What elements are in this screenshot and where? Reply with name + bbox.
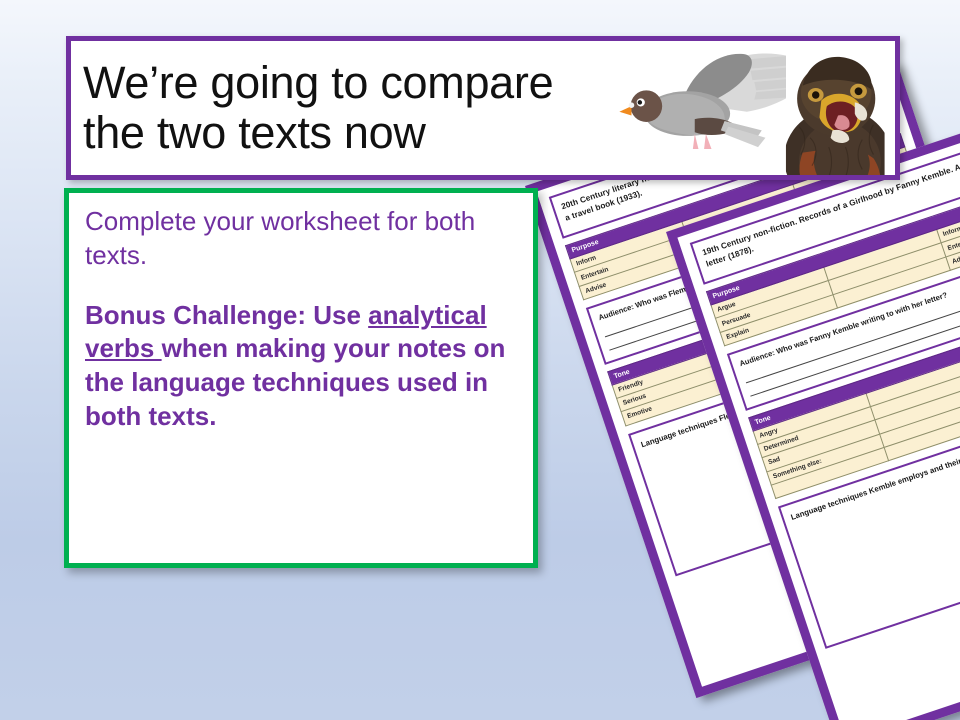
instruction-bonus-challenge: Bonus Challenge: Use analytical verbs wh… <box>85 299 517 434</box>
table-cell-blank <box>844 300 960 351</box>
instruction-spacer <box>85 273 517 299</box>
table-row: Determined <box>758 407 875 458</box>
language-techniques-notes: Language techniques Fleming employs and … <box>628 321 960 576</box>
answer-rule <box>748 280 960 396</box>
table-cell-blank <box>840 286 956 337</box>
table-cell-blank <box>866 355 960 406</box>
page-title: We’re going to compare the two texts now <box>71 58 553 159</box>
table-row: Angry <box>753 393 870 444</box>
table-cell-blank <box>733 337 849 388</box>
table-row: Persuade <box>716 281 833 332</box>
table-row: Sad <box>762 420 879 471</box>
title-banner: We’re going to compare the two texts now <box>66 36 900 180</box>
table-cell-blank <box>824 229 941 280</box>
pigeon-illustration <box>619 53 809 148</box>
audience-question-label: Audience: Who was Fleming writing to wit… <box>597 252 784 322</box>
slide-canvas: 20th Century literary non-fiction. One’s… <box>0 0 960 720</box>
answer-rule <box>602 222 923 337</box>
table-cell-blank <box>875 382 960 433</box>
purpose-table: Purpose Argue Inform Persuade Entertain … <box>706 178 960 347</box>
table-row: Emotive <box>621 375 737 426</box>
audience-question-block: Audience: Who was Fleming writing to wit… <box>586 196 941 365</box>
answer-rule <box>743 267 960 383</box>
audience-question-label: Audience: Who was Fanny Kemble writing t… <box>738 290 948 368</box>
bonus-lead-text: Bonus Challenge: Use <box>85 300 368 330</box>
audience-question-block: Audience: Who was Fanny Kemble writing t… <box>727 241 960 411</box>
table-cell-blank <box>724 310 840 361</box>
table-cell-blank <box>771 447 888 498</box>
table-cell-blank <box>880 396 960 447</box>
table-cell-blank <box>682 184 798 235</box>
language-techniques-notes: Language techniques Kemble employs and t… <box>778 393 960 649</box>
table-row: Entertain <box>941 205 960 256</box>
table-row: Inform <box>570 222 686 273</box>
table-row: Serious <box>617 361 733 412</box>
table-cell-blank <box>833 257 950 308</box>
table-row: Entertain <box>575 235 691 286</box>
table-cell-blank <box>884 410 960 461</box>
table-cell-blank <box>691 212 807 263</box>
instruction-paragraph-1: Complete your worksheet for both texts. <box>85 205 517 273</box>
instruction-box: Complete your worksheet for both texts. … <box>64 188 538 568</box>
table-cell-blank <box>686 198 802 249</box>
table-row: Something else: <box>767 434 884 485</box>
banner-artwork <box>595 41 895 175</box>
table-row: Advise <box>946 219 960 270</box>
table-row: Advise <box>579 249 695 300</box>
table-row: Inform <box>937 192 960 243</box>
table-cell-blank <box>870 369 960 420</box>
hawk-photo <box>784 41 892 175</box>
worksheet-19th-century: 19th Century non-fiction. Records of a G… <box>666 106 960 720</box>
table-row: Argue <box>711 267 828 318</box>
answer-rule <box>607 235 928 350</box>
tone-table-header: Tone <box>608 259 947 384</box>
purpose-table-header: Purpose <box>707 178 960 305</box>
tone-table: Tone Friendly Serious Emotive <box>607 259 960 426</box>
tone-table-header: Tone <box>749 304 960 431</box>
table-cell-blank <box>728 324 844 375</box>
table-cell-blank <box>835 273 951 324</box>
table-row: Friendly <box>612 347 728 398</box>
tone-table: Tone Angry Determined Sad Friendly <box>748 303 960 499</box>
table-row: Explain <box>720 295 837 346</box>
table-cell-blank <box>802 174 918 225</box>
table-cell-blank <box>828 243 945 294</box>
